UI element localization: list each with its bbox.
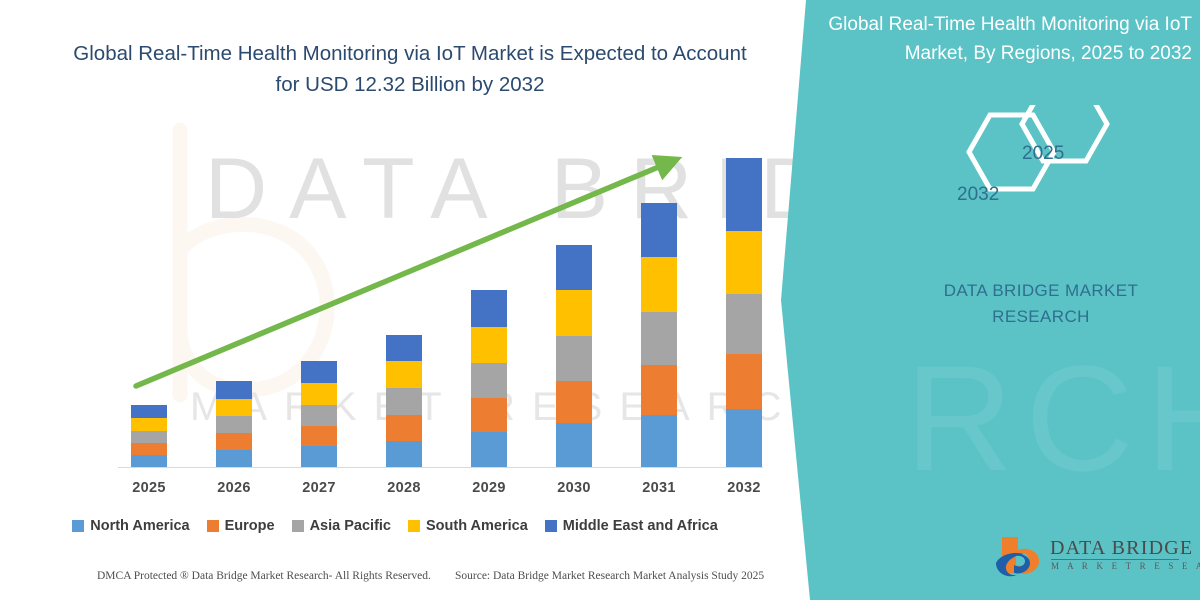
legend-swatch-icon (207, 520, 219, 532)
hexagon-label-end: 2032 (957, 184, 999, 206)
x-axis-line (118, 467, 763, 468)
legend-item[interactable]: Middle East and Africa (545, 518, 718, 534)
bar-segment (556, 423, 592, 467)
x-axis-label-2025: 2025 (114, 480, 184, 496)
bar-segment (641, 257, 677, 312)
footer-copyright: DMCA Protected ® Data Bridge Market Rese… (97, 570, 431, 582)
legend-label: South America (426, 518, 528, 534)
legend-item[interactable]: Europe (207, 518, 275, 534)
bar-segment (726, 231, 762, 294)
panel-title: Global Real-Time Health Monitoring via I… (822, 10, 1192, 68)
bar-segment (131, 443, 167, 455)
bar-segment (301, 383, 337, 405)
bar-segment (726, 158, 762, 231)
chart-legend: North AmericaEuropeAsia PacificSouth Ame… (0, 518, 790, 534)
bar-segment (556, 245, 592, 290)
hexagon-label-start: 2025 (1022, 143, 1064, 165)
bar-segment (386, 361, 422, 388)
bar-segment (471, 363, 507, 398)
bar-segment (471, 432, 507, 467)
bar-segment (301, 446, 337, 467)
bar-2026 (216, 381, 252, 467)
bar-segment (216, 381, 252, 399)
footer-source: Source: Data Bridge Market Research Mark… (455, 570, 764, 582)
bar-segment (131, 418, 167, 431)
panel-brand-line: DATA BRIDGE MARKET RESEARCH (905, 278, 1177, 330)
x-axis-label-2027: 2027 (284, 480, 354, 496)
bar-2031 (641, 203, 677, 467)
legend-swatch-icon (292, 520, 304, 532)
bar-segment (471, 290, 507, 327)
legend-swatch-icon (72, 520, 84, 532)
bar-segment (726, 294, 762, 354)
legend-item[interactable]: South America (408, 518, 528, 534)
bar-segment (641, 312, 677, 365)
bar-segment (131, 431, 167, 443)
bar-segment (131, 455, 167, 467)
dbmr-logo: DATA BRIDGE M A R K E T R E S E A R C H (994, 533, 1190, 585)
dbmr-logo-divider (1051, 559, 1179, 560)
infographic-canvas: DATA BRIDGE MARKET RESEARCH Global Real-… (0, 0, 1200, 600)
bar-segment (386, 415, 422, 441)
bar-segment (386, 335, 422, 361)
bar-segment (131, 405, 167, 418)
legend-item[interactable]: North America (72, 518, 189, 534)
bar-segment (216, 433, 252, 450)
dbmr-logo-mark (994, 533, 1046, 583)
bar-segment (386, 441, 422, 467)
bar-2032 (726, 158, 762, 467)
bar-segment (556, 290, 592, 336)
bar-segment (386, 388, 422, 415)
legend-label: Europe (225, 518, 275, 534)
bar-segment (301, 405, 337, 426)
bar-2029 (471, 290, 507, 467)
x-axis-label-2030: 2030 (539, 480, 609, 496)
bar-segment (216, 450, 252, 467)
x-axis-label-2026: 2026 (199, 480, 269, 496)
legend-label: North America (90, 518, 189, 534)
hexagon-year-badges (925, 105, 1135, 235)
bar-2028 (386, 335, 422, 467)
bar-segment (641, 365, 677, 415)
bar-segment (216, 399, 252, 416)
dbmr-logo-tagline: M A R K E T R E S E A R C H (1051, 561, 1200, 571)
bar-2027 (301, 361, 337, 467)
legend-swatch-icon (545, 520, 557, 532)
bar-segment (301, 426, 337, 446)
bar-2030 (556, 245, 592, 467)
legend-label: Asia Pacific (310, 518, 391, 534)
bar-segment (726, 354, 762, 409)
bar-segment (556, 336, 592, 381)
dbmr-logo-name: DATA BRIDGE (1050, 537, 1193, 560)
bar-segment (471, 398, 507, 432)
bar-segment (641, 203, 677, 257)
x-axis-label-2028: 2028 (369, 480, 439, 496)
bar-segment (301, 361, 337, 383)
x-axis-label-2032: 2032 (709, 480, 779, 496)
legend-swatch-icon (408, 520, 420, 532)
legend-item[interactable]: Asia Pacific (292, 518, 391, 534)
x-axis-label-2029: 2029 (454, 480, 524, 496)
bar-segment (641, 415, 677, 467)
chart-area: 20252026202720282029203020312032 North A… (0, 0, 790, 600)
bar-segment (471, 327, 507, 363)
svg-text:RCH: RCH (905, 334, 1200, 502)
bar-segment (216, 416, 252, 433)
bar-2025 (131, 405, 167, 467)
bar-segment (556, 381, 592, 423)
bar-segment (726, 409, 762, 467)
x-axis-label-2031: 2031 (624, 480, 694, 496)
legend-label: Middle East and Africa (563, 518, 718, 534)
